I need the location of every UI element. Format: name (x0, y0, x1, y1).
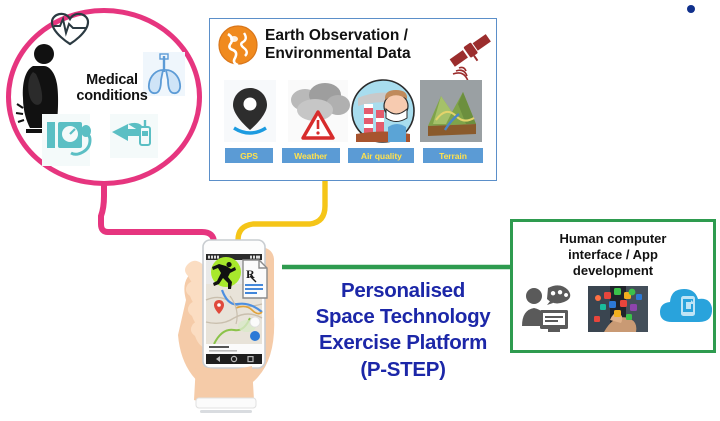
earth-observation-title: Earth Observation / Environmental Data (265, 27, 440, 63)
badge-weather[interactable]: Weather (282, 148, 340, 163)
hci-title-line2: interface / App (521, 247, 705, 263)
platform-title-line2: Space Technology (293, 304, 513, 330)
connector-eo-to-phone (238, 172, 325, 258)
prescription-rx-icon: R (243, 260, 267, 298)
medical-conditions-label: Medical conditions (62, 72, 162, 104)
runner-icon (211, 257, 241, 289)
eo-title-line1: Earth Observation / (265, 27, 440, 45)
hci-title: Human computer interface / App developme… (521, 231, 705, 279)
smartphone-in-hand[interactable]: R (178, 240, 274, 413)
svg-text:R: R (246, 267, 255, 281)
badge-air-quality[interactable]: Air quality (348, 148, 414, 163)
medical-label-line2: conditions (62, 88, 162, 104)
connector-medical-to-phone (101, 186, 214, 256)
eo-title-line2: Environmental Data (265, 45, 440, 63)
diagram-canvas: Medical conditions Earth Observation / E… (0, 0, 720, 421)
platform-title-line1: Personalised (293, 278, 513, 304)
badge-terrain[interactable]: Terrain (423, 148, 483, 163)
platform-title: Personalised Space Technology Exercise P… (293, 278, 513, 383)
platform-title-line4: (P-STEP) (293, 357, 513, 383)
earth-observation-badges: GPS Weather Air quality Terrain (225, 148, 483, 163)
medical-label-line1: Medical (62, 72, 162, 88)
hci-title-line1: Human computer (521, 231, 705, 247)
navy-dot-icon (687, 5, 695, 13)
hci-title-line3: development (521, 263, 705, 279)
platform-title-line3: Exercise Platform (293, 330, 513, 356)
badge-gps[interactable]: GPS (225, 148, 273, 163)
